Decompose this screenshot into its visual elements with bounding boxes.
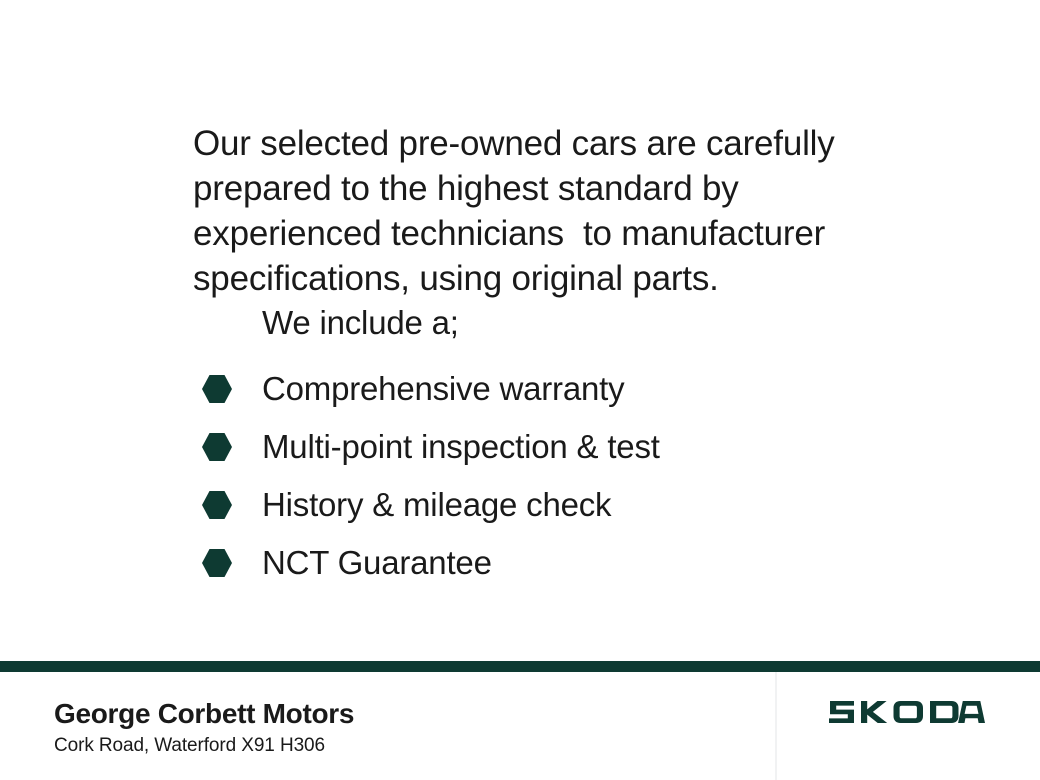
hexagon-bullet-icon <box>200 488 234 522</box>
list-item-label: NCT Guarantee <box>262 544 492 582</box>
list-item: Comprehensive warranty <box>200 360 900 418</box>
hexagon-bullet-icon <box>200 546 234 580</box>
skoda-wordmark-icon <box>828 697 986 727</box>
list-item-label: Comprehensive warranty <box>262 370 624 408</box>
hexagon-bullet-icon <box>200 430 234 464</box>
hexagon-bullet-icon <box>200 372 234 406</box>
list-item: NCT Guarantee <box>200 534 900 592</box>
headline-paragraph: Our selected pre-owned cars are carefull… <box>193 121 893 301</box>
list-item-label: History & mileage check <box>262 486 611 524</box>
list-item-label: Multi-point inspection & test <box>262 428 660 466</box>
list-item: History & mileage check <box>200 476 900 534</box>
slide-canvas: Our selected pre-owned cars are carefull… <box>0 0 1040 780</box>
footer-rule <box>0 661 1040 672</box>
dealer-address: Cork Road, Waterford X91 H306 <box>54 734 325 758</box>
benefits-list: Comprehensive warranty Multi-point inspe… <box>200 360 900 592</box>
footer-vertical-divider <box>775 672 777 780</box>
list-item: Multi-point inspection & test <box>200 418 900 476</box>
include-label: We include a; <box>262 303 459 343</box>
dealer-name: George Corbett Motors <box>54 697 354 731</box>
